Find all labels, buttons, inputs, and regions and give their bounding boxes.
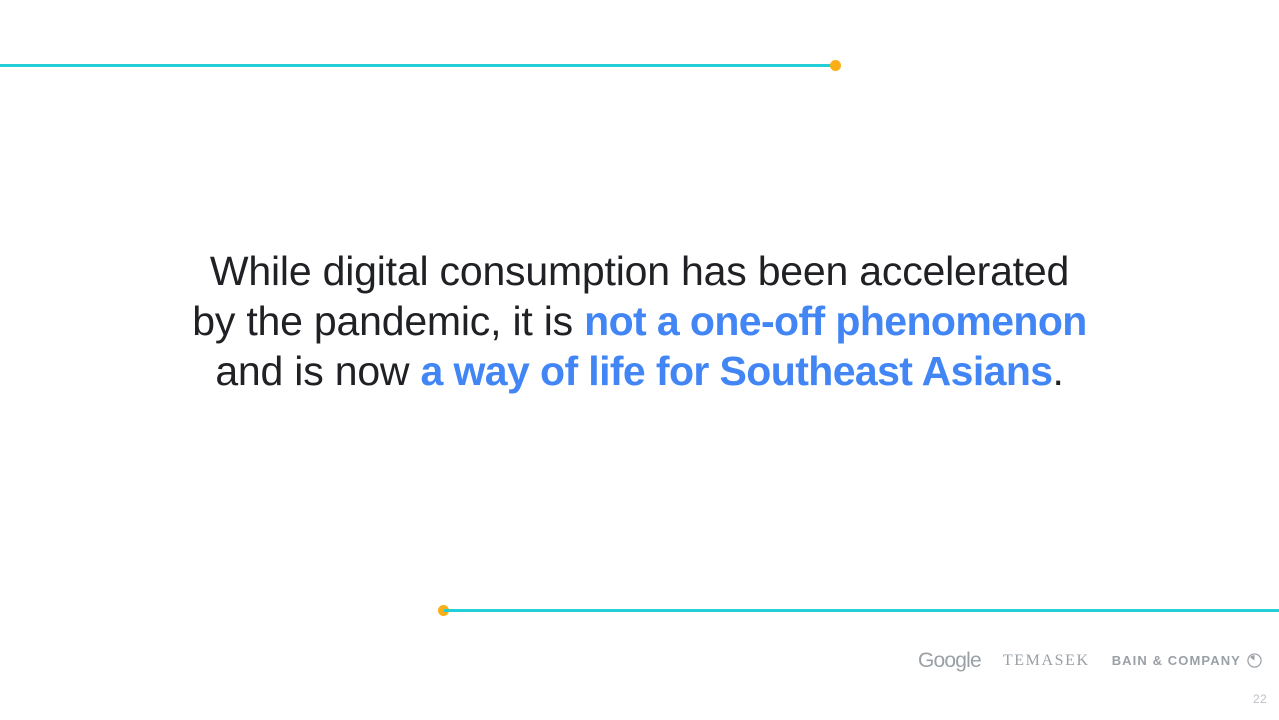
statement-line-1: While digital consumption has been accel…	[0, 246, 1279, 296]
statement-line-3-period: .	[1052, 348, 1063, 394]
page-number: 22	[1253, 692, 1267, 706]
statement-line-3-text: and is now	[215, 348, 420, 394]
statement-line-1-text: While digital consumption has been accel…	[210, 248, 1069, 294]
bain-logo: BAIN & COMPANY	[1112, 653, 1262, 668]
statement-text: While digital consumption has been accel…	[0, 246, 1279, 396]
logo-bar: Google TEMASEK BAIN & COMPANY	[918, 650, 1262, 671]
statement-line-3-highlight: a way of life for Southeast Asians	[421, 348, 1053, 394]
bottom-accent-rule	[444, 609, 1279, 612]
top-accent-dot	[830, 60, 841, 71]
top-accent-rule	[0, 64, 836, 67]
google-logo: Google	[918, 650, 981, 671]
bain-logo-text: BAIN & COMPANY	[1112, 654, 1241, 667]
statement-line-2-highlight: not a one-off phenomenon	[584, 298, 1087, 344]
statement-line-2: by the pandemic, it is not a one-off phe…	[0, 296, 1279, 346]
temasek-logo: TEMASEK	[1003, 653, 1090, 669]
statement-line-2-text: by the pandemic, it is	[192, 298, 584, 344]
bain-circle-icon	[1247, 653, 1262, 668]
statement-line-3: and is now a way of life for Southeast A…	[0, 346, 1279, 396]
